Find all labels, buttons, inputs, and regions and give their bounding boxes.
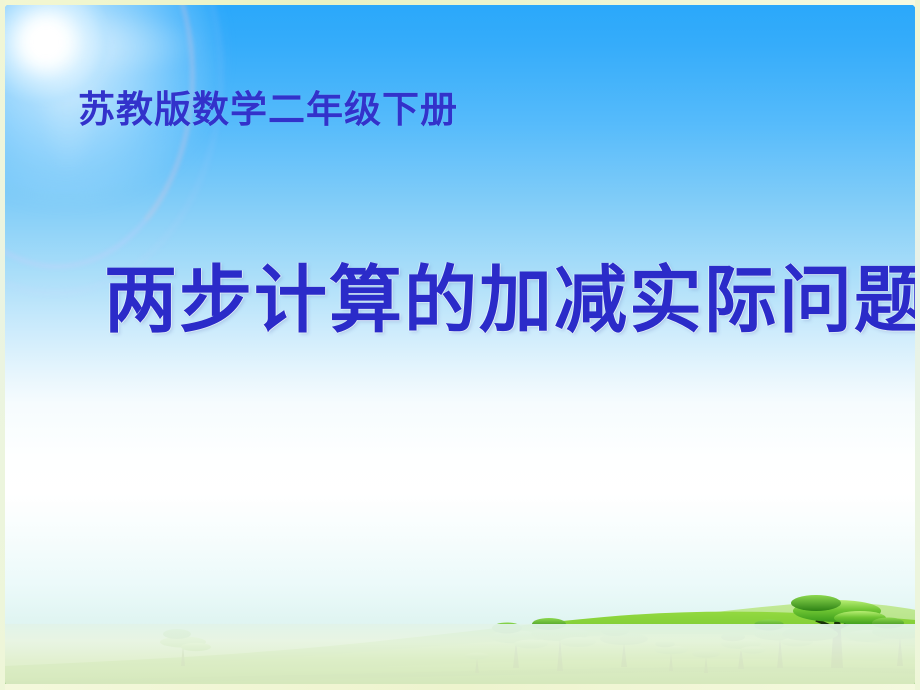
- slide-canvas: 苏教版数学二年级下册 两步计算的加减实际问题: [0, 0, 920, 690]
- text-layer: 苏教版数学二年级下册 两步计算的加减实际问题: [0, 0, 920, 690]
- slide-subtitle: 苏教版数学二年级下册: [78, 91, 458, 132]
- page-title: 两步计算的加减实际问题: [104, 262, 920, 341]
